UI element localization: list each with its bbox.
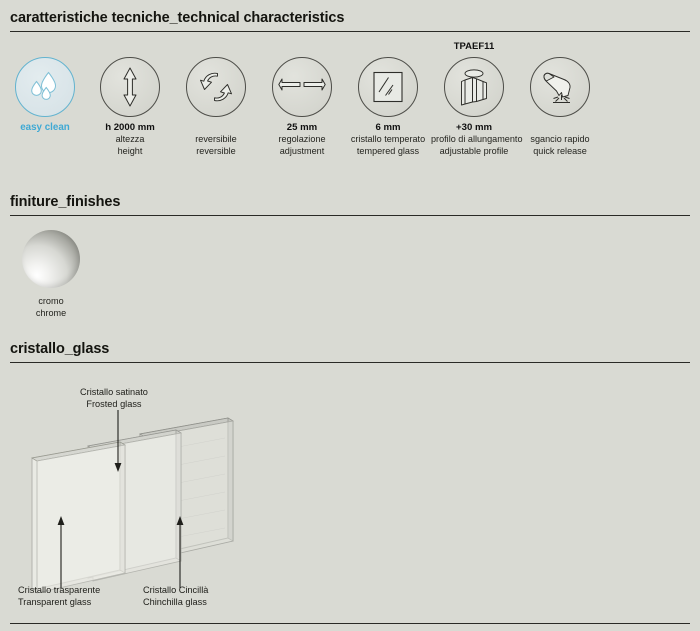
icon-frame <box>517 53 603 121</box>
tech-item-value: h 2000 mm <box>87 121 173 134</box>
spec-sheet-page: caratteristiche tecniche_technical chara… <box>0 0 700 631</box>
header-divider <box>10 31 690 32</box>
glass-pane-icon <box>358 57 418 117</box>
callout-chinchilla-glass: Cristallo Cincillà Chinchilla glass <box>143 585 208 609</box>
finish-label: cromo chrome <box>12 296 90 319</box>
glass-title: cristallo_glass <box>10 341 690 358</box>
tech-item-height: h 2000 mm altezza height <box>87 40 173 157</box>
callout-transparent-glass: Cristallo trasparente Transparent glass <box>18 585 100 609</box>
tech-item-label-it: cristallo temperato <box>345 134 431 146</box>
callout-transparent-en: Transparent glass <box>18 597 100 609</box>
tech-item-code <box>173 40 259 53</box>
tech-item-value: 25 mm <box>259 121 345 134</box>
tech-item-label-en: adjustment <box>259 146 345 158</box>
horizontal-double-arrow-icon <box>272 57 332 117</box>
callout-frosted-glass: Cristallo satinato Frosted glass <box>80 387 148 411</box>
glass-illustration: Cristallo satinato Frosted glass Cristal… <box>0 372 700 622</box>
tech-item-value: +30 mm <box>431 121 517 134</box>
finish-label-en: chrome <box>12 308 90 320</box>
tech-item-label-it: profilo di allungamento <box>431 134 517 146</box>
tech-item-code <box>87 40 173 53</box>
technical-characteristics-row: easy clean h 2000 mm altezza height <box>0 40 700 165</box>
header-divider <box>10 362 690 363</box>
tech-item-label-it: reversibile <box>173 134 259 146</box>
tech-item-label-it: altezza <box>87 134 173 146</box>
finishes-title: finiture_finishes <box>10 194 690 211</box>
callout-chinchilla-it: Cristallo Cincillà <box>143 585 208 597</box>
tech-item-label-en: adjustable profile <box>431 146 517 158</box>
tech-item-value: 6 mm <box>345 121 431 134</box>
tech-item-label-it: sgancio rapido <box>517 134 603 146</box>
callout-transparent-it: Cristallo trasparente <box>18 585 100 597</box>
icon-frame <box>259 53 345 121</box>
reversible-rotation-arrows-icon <box>186 57 246 117</box>
finishes-header: finiture_finishes <box>10 194 690 216</box>
water-drops-icon <box>15 57 75 117</box>
technical-characteristics-title: caratteristiche tecniche_technical chara… <box>10 10 690 27</box>
hand-quick-release-icon <box>530 57 590 117</box>
tech-item-label-en: tempered glass <box>345 146 431 158</box>
tech-item-code <box>2 40 88 53</box>
finishes-row: cromo chrome <box>12 230 90 319</box>
icon-frame <box>173 53 259 121</box>
tech-item-tempered-glass: 6 mm cristallo temperato tempered glass <box>345 40 431 157</box>
tech-item-code <box>517 40 603 53</box>
callout-frosted-it: Cristallo satinato <box>80 387 148 399</box>
tech-item-adjustable-profile: TPAEF11 +30 <box>431 40 517 157</box>
tech-item-value: easy clean <box>2 121 88 134</box>
icon-frame <box>87 53 173 121</box>
callout-frosted-en: Frosted glass <box>80 399 148 411</box>
glass-panel-transparent <box>32 442 125 593</box>
tech-item-code: TPAEF11 <box>431 40 517 53</box>
icon-frame <box>431 53 517 121</box>
tech-item-label-en: reversible <box>173 146 259 158</box>
tech-item-code <box>259 40 345 53</box>
chrome-sphere-swatch <box>22 230 80 288</box>
bottom-divider <box>10 623 690 624</box>
callout-chinchilla-en: Chinchilla glass <box>143 597 208 609</box>
header-divider <box>10 215 690 216</box>
adjustable-profile-icon <box>444 57 504 117</box>
finish-item-chrome: cromo chrome <box>12 230 90 319</box>
tech-item-adjustment: 25 mm regolazione adjustment <box>259 40 345 157</box>
tech-item-label-it: regolazione <box>259 134 345 146</box>
tech-item-easy-clean: easy clean <box>2 40 88 134</box>
tech-item-quick-release: sgancio rapido quick release <box>517 40 603 157</box>
tech-item-value <box>517 121 603 134</box>
tech-item-value <box>173 121 259 134</box>
vertical-double-arrow-icon <box>100 57 160 117</box>
tech-item-code <box>345 40 431 53</box>
tech-item-reversible: reversibile reversible <box>173 40 259 157</box>
icon-frame <box>2 53 88 121</box>
technical-characteristics-header: caratteristiche tecniche_technical chara… <box>10 10 690 32</box>
icon-frame <box>345 53 431 121</box>
glass-header: cristallo_glass <box>10 341 690 363</box>
tech-item-label-en: height <box>87 146 173 158</box>
finish-label-it: cromo <box>12 296 90 308</box>
tech-item-label-en: quick release <box>517 146 603 158</box>
